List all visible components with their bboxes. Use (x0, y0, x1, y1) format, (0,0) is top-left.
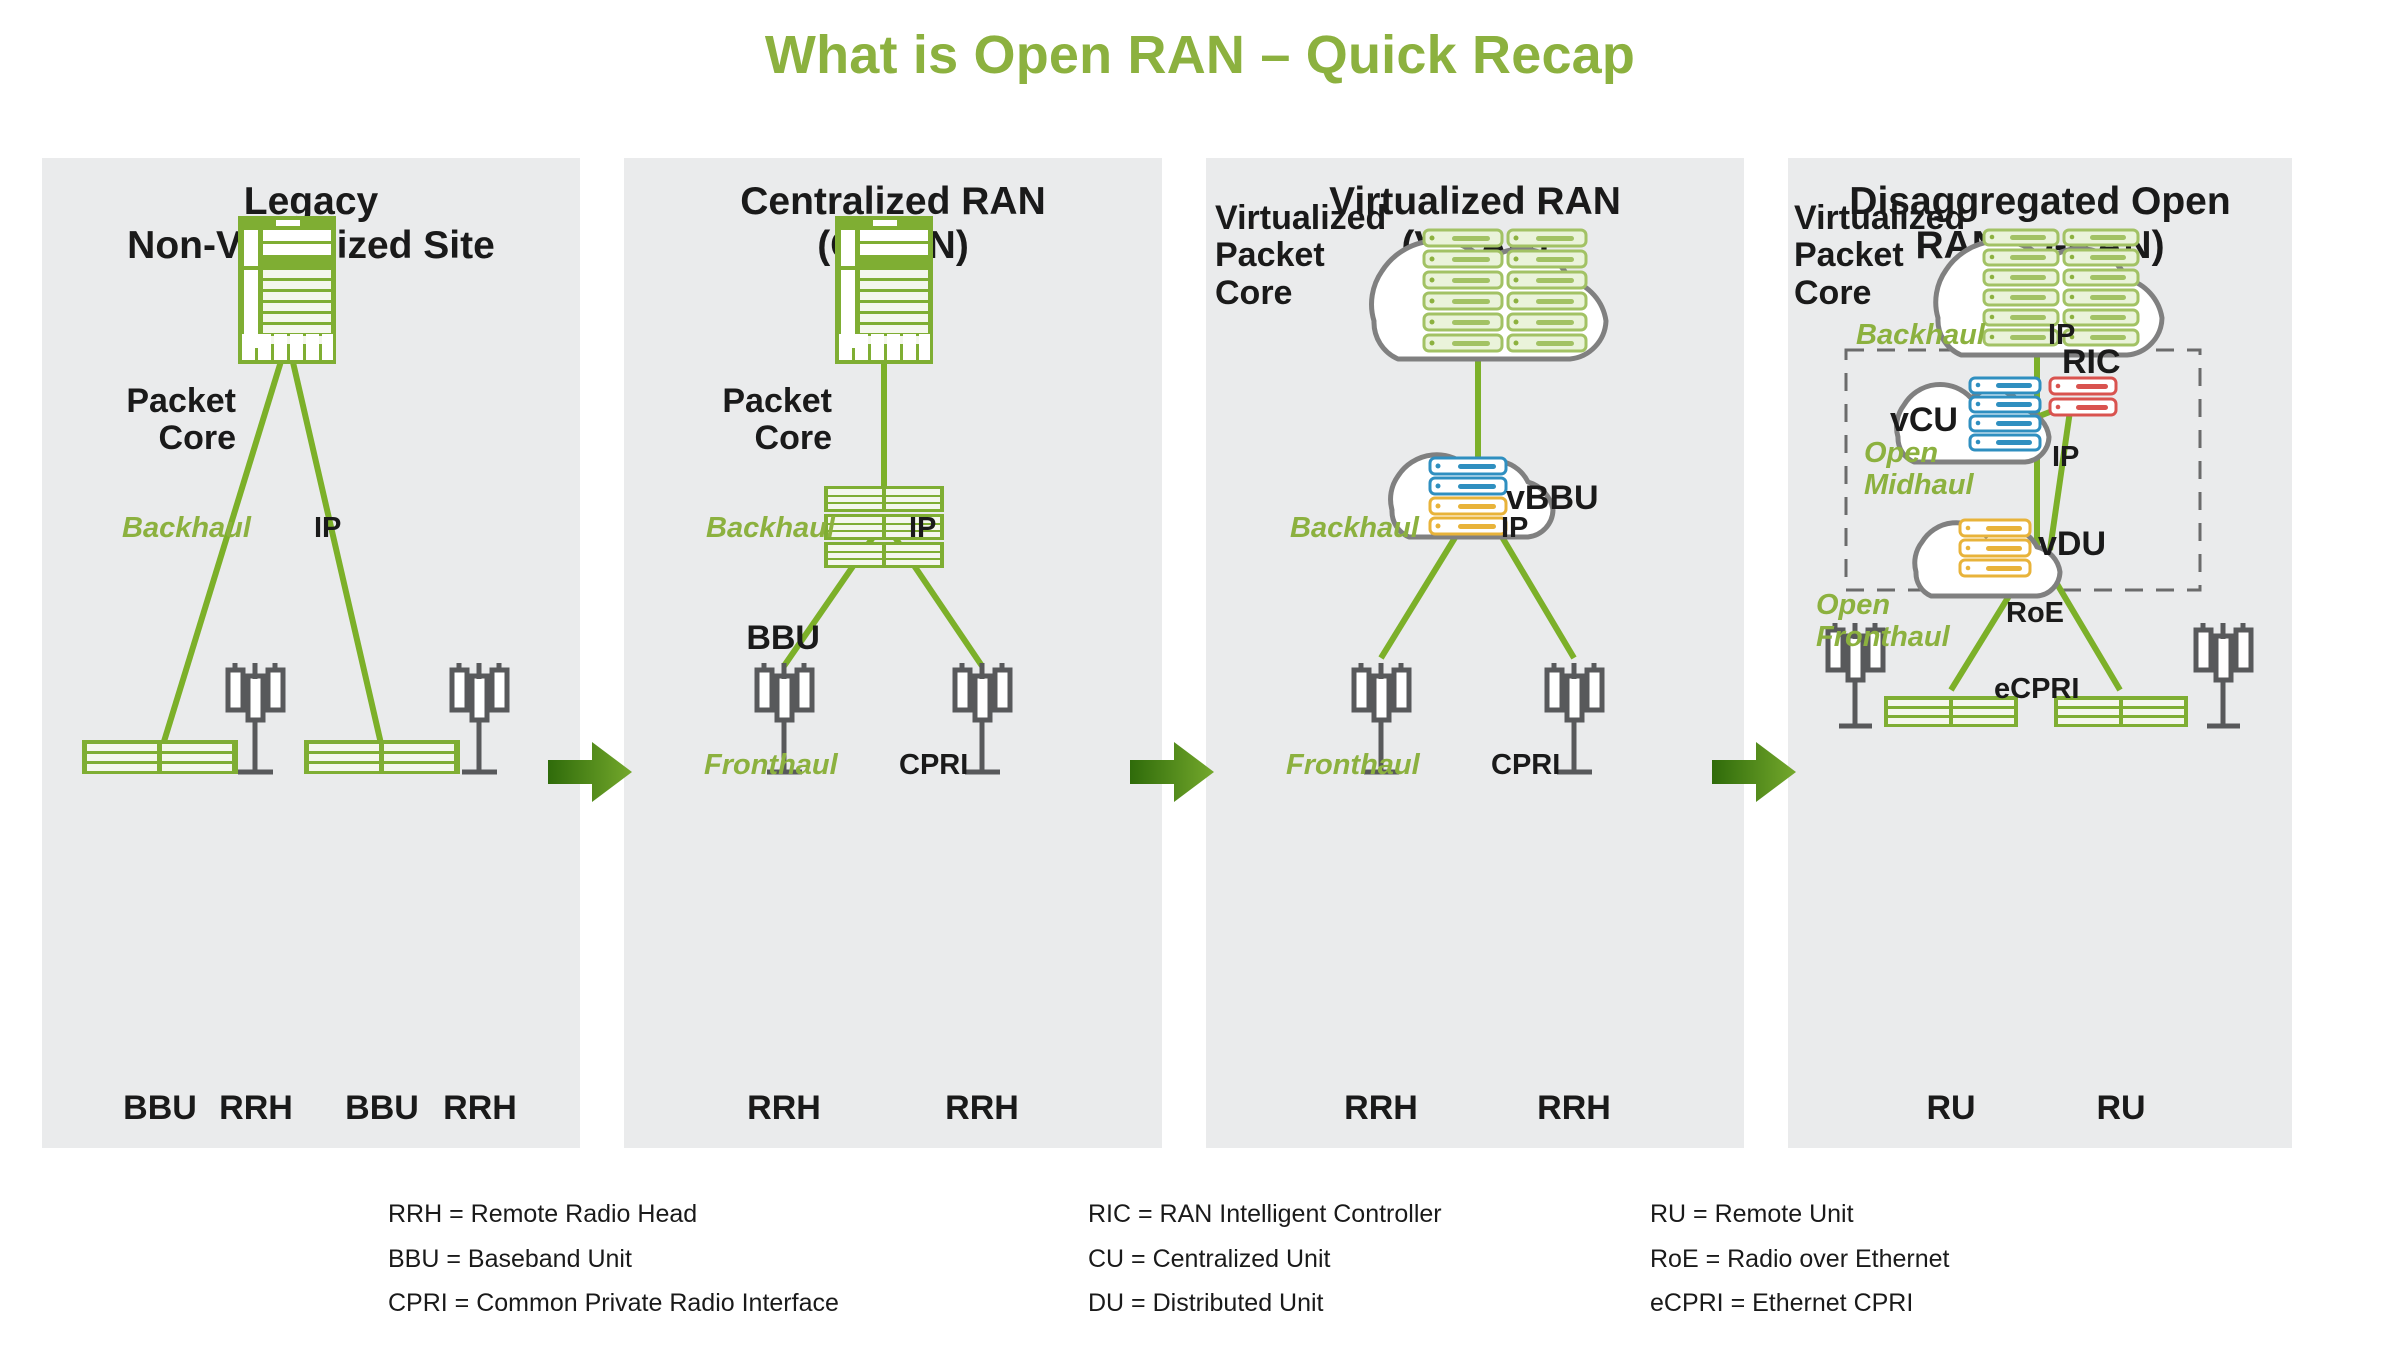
bbu-shelf-icon-1 (82, 740, 238, 774)
panel-vran: Virtualized RAN (V-RAN) (1206, 158, 1744, 1148)
legend-column-1: RRH = Remote Radio Head BBU = Baseband U… (388, 1192, 839, 1326)
link-label-ip: IP (1501, 513, 1528, 545)
node-label-ru-2: RU (2047, 1090, 2195, 1127)
link-label-ecpri: eCPRI (1994, 674, 2079, 706)
link-label-fronthaul: Fronthaul (1286, 750, 1420, 782)
antenna-tower-icon-2 (2196, 623, 2251, 726)
node-label-vbbu: vBBU (1506, 480, 1646, 517)
legend-column-2: RIC = RAN Intelligent Controller CU = Ce… (1088, 1192, 1442, 1326)
link-label-cpri: CPRI (899, 750, 968, 782)
link-label-ip: IP (909, 513, 936, 545)
link-label-roe: RoE (2006, 598, 2064, 630)
node-label-rrh-1: RRH (710, 1090, 858, 1127)
packet-core-label: Packet Core (714, 383, 832, 458)
link-label-cpri: CPRI (1491, 750, 1560, 782)
packet-core-label: Packet Core (118, 383, 236, 458)
node-label-bbu: BBU (710, 620, 820, 657)
panel-title-legacy: Legacy Non-Virtualized Site (42, 180, 580, 267)
diagram-root: What is Open RAN – Quick Recap Legacy No… (0, 0, 2400, 1350)
node-label-ru-1: RU (1877, 1090, 2025, 1127)
node-label-rrh-1: RRH (1307, 1090, 1455, 1127)
rrh-tower-icon-2 (452, 663, 507, 772)
link-label-backhaul: Backhaul (1856, 320, 1985, 352)
panel-legacy-graphics (42, 158, 580, 1148)
link-label-backhaul: Backhaul (122, 513, 251, 545)
page-title: What is Open RAN – Quick Recap (0, 24, 2400, 86)
transition-arrow-2 (1130, 740, 1214, 804)
ric-servers-icon (2050, 378, 2116, 415)
panel-title-cran: Centralized RAN (C-RAN) (624, 180, 1162, 267)
transition-arrow-1 (548, 740, 632, 804)
panel-cran: Centralized RAN (C-RAN) (624, 158, 1162, 1148)
link-label-backhaul: Backhaul (706, 513, 835, 545)
virtualized-packet-core-label: Virtualized Packet Core (1215, 200, 1386, 312)
panel-cran-graphics (624, 158, 1162, 1148)
panel-legacy: Legacy Non-Virtualized Site (42, 158, 580, 1148)
panel-oran: Disaggregated Open RAN (O-RAN) (1788, 158, 2292, 1148)
link-label-backhaul: Backhaul (1290, 513, 1419, 545)
link-label-open-fronthaul: Open Fronthaul (1816, 590, 1950, 654)
node-label-vdu: vDU (2038, 526, 2178, 563)
legend-column-3: RU = Remote Unit RoE = Radio over Ethern… (1650, 1192, 1949, 1326)
link-label-open-midhaul: Open Midhaul (1864, 438, 1974, 502)
node-label-rrh-2: RRH (908, 1090, 1056, 1127)
transition-arrow-3 (1712, 740, 1796, 804)
node-label-ric: RIC (2062, 344, 2182, 381)
bbu-shelf-icon-2 (304, 740, 460, 774)
rrh-tower-icon-1 (228, 663, 283, 772)
link-label-ip: IP (314, 513, 341, 545)
link-label-fronthaul: Fronthaul (704, 750, 838, 782)
node-label-vcu: vCU (1838, 402, 1958, 439)
node-label-rrh-2: RRH (1500, 1090, 1648, 1127)
node-label-rrh-2: RRH (406, 1090, 554, 1127)
virtualized-packet-core-label: Virtualized Packet Core (1794, 200, 1965, 312)
link-label-ip-midhaul: IP (2052, 442, 2079, 474)
